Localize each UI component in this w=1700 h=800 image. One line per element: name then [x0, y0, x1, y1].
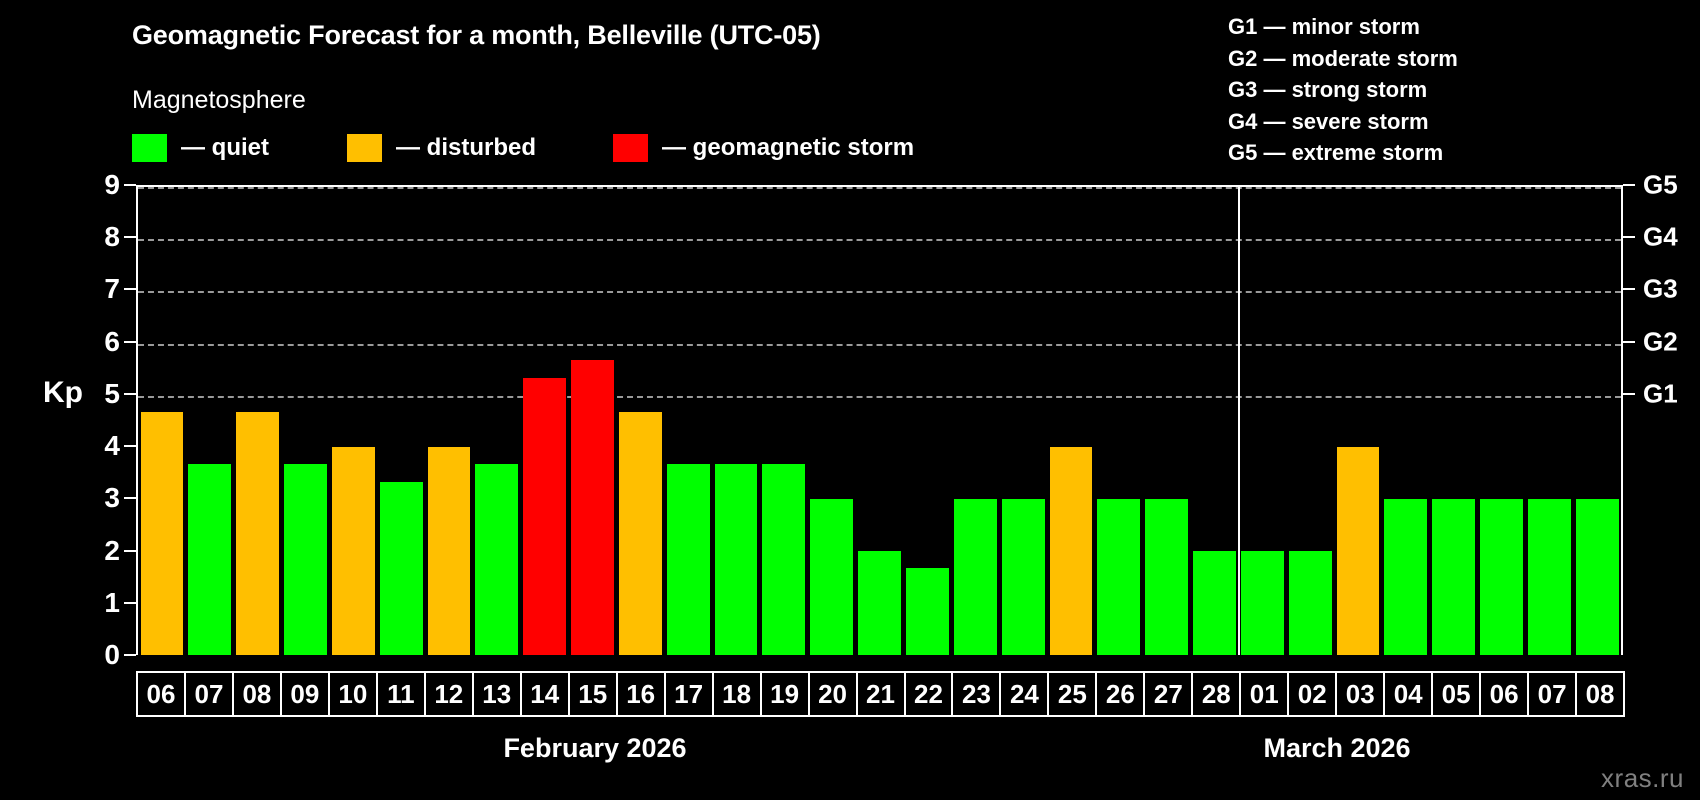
g-tick-mark-G1 — [1623, 393, 1635, 395]
legend-label: — geomagnetic storm — [662, 134, 914, 162]
date-cell[interactable]: 08 — [232, 671, 282, 717]
date-cell[interactable]: 07 — [184, 671, 234, 717]
bar-07-quiet[interactable] — [1528, 499, 1571, 655]
y-tick-label-5: 5 — [78, 378, 120, 410]
bar-09-quiet[interactable] — [284, 464, 327, 655]
date-cell[interactable]: 12 — [424, 671, 474, 717]
bar-cell[interactable] — [1095, 187, 1143, 655]
bar-02-quiet[interactable] — [1289, 551, 1332, 655]
legend-swatch-quiet-icon — [132, 134, 167, 162]
g-tick-label-G4: G4 — [1643, 222, 1678, 253]
legend-item-quiet: — quiet — [132, 134, 269, 162]
bar-cell[interactable] — [1238, 187, 1286, 655]
g-scale-row-4: G4 — severe storm — [1228, 106, 1458, 138]
g-axis: G5G4G3G2G1 — [1623, 185, 1693, 655]
g-tick-label-G3: G3 — [1643, 274, 1678, 305]
bar-cell[interactable] — [664, 187, 712, 655]
legend-item-disturbed: — disturbed — [347, 134, 536, 162]
bar-cell[interactable] — [1191, 187, 1239, 655]
legend-item-storm: — geomagnetic storm — [613, 134, 914, 162]
g-scale-legend: G1 — minor stormG2 — moderate stormG3 — … — [1228, 11, 1458, 169]
g-tick-mark-G5 — [1623, 184, 1635, 186]
bar-16-disturbed[interactable] — [619, 412, 662, 655]
y-axis-tick-marks — [124, 185, 136, 655]
bar-cell[interactable] — [329, 187, 377, 655]
bar-cell[interactable] — [282, 187, 330, 655]
date-cell[interactable]: 20 — [808, 671, 858, 717]
date-cell[interactable]: 23 — [951, 671, 1001, 717]
date-cell[interactable]: 24 — [999, 671, 1049, 717]
legend-swatch-disturbed-icon — [347, 134, 382, 162]
date-cell[interactable]: 13 — [472, 671, 522, 717]
bar-cell[interactable] — [951, 187, 999, 655]
g-scale-row-5: G5 — extreme storm — [1228, 137, 1458, 169]
date-cell[interactable]: 09 — [280, 671, 330, 717]
legend-label: — disturbed — [396, 134, 536, 162]
bar-cell[interactable] — [234, 187, 282, 655]
bar-18-quiet[interactable] — [715, 464, 758, 655]
chart-root: Geomagnetic Forecast for a month, Bellev… — [0, 0, 1700, 800]
date-cell[interactable]: 06 — [136, 671, 186, 717]
date-cell[interactable]: 06 — [1479, 671, 1529, 717]
plot-area — [136, 185, 1623, 655]
bar-cell[interactable] — [808, 187, 856, 655]
bar-01-quiet[interactable] — [1241, 551, 1284, 655]
date-cell[interactable]: 01 — [1239, 671, 1289, 717]
y-tick-mark-4 — [124, 445, 136, 447]
date-cell[interactable]: 08 — [1575, 671, 1625, 717]
date-cell[interactable]: 18 — [712, 671, 762, 717]
g-scale-row-1: G1 — minor storm — [1228, 11, 1458, 43]
bar-cell[interactable] — [760, 187, 808, 655]
bar-19-quiet[interactable] — [762, 464, 805, 655]
y-tick-label-9: 9 — [78, 169, 120, 201]
y-tick-mark-1 — [124, 602, 136, 604]
y-tick-mark-9 — [124, 184, 136, 186]
g-tick-mark-G2 — [1623, 341, 1635, 343]
bar-series — [138, 187, 1621, 655]
bar-22-quiet[interactable] — [906, 568, 949, 655]
bar-cell[interactable] — [904, 187, 952, 655]
date-cell[interactable]: 26 — [1095, 671, 1145, 717]
bar-15-storm[interactable] — [571, 360, 614, 655]
bar-cell[interactable] — [377, 187, 425, 655]
bar-17-quiet[interactable] — [667, 464, 710, 655]
bar-cell[interactable] — [569, 187, 617, 655]
bar-24-quiet[interactable] — [1002, 499, 1045, 655]
watermark: xras.ru — [1601, 763, 1684, 794]
legend-label: — quiet — [181, 134, 269, 162]
date-cell[interactable]: 16 — [616, 671, 666, 717]
bar-cell[interactable] — [856, 187, 904, 655]
g-tick-mark-G4 — [1623, 236, 1635, 238]
month-divider — [1238, 187, 1240, 655]
month-label-march: March 2026 — [1192, 733, 1482, 764]
g-tick-label-G1: G1 — [1643, 378, 1678, 409]
y-axis-tick-labels: 9876543210 — [78, 185, 120, 655]
month-label-february: February 2026 — [440, 733, 750, 764]
bar-cell[interactable] — [1382, 187, 1430, 655]
bar-cell[interactable] — [1143, 187, 1191, 655]
bar-07-quiet[interactable] — [188, 464, 231, 655]
y-tick-mark-8 — [124, 236, 136, 238]
date-cell[interactable]: 21 — [856, 671, 906, 717]
bar-cell[interactable] — [1525, 187, 1573, 655]
bar-cell[interactable] — [1573, 187, 1621, 655]
bar-cell[interactable] — [712, 187, 760, 655]
page-title: Geomagnetic Forecast for a month, Bellev… — [132, 20, 821, 51]
legend-heading: Magnetosphere — [132, 86, 306, 115]
y-tick-mark-6 — [124, 341, 136, 343]
date-cell[interactable]: 15 — [568, 671, 618, 717]
magnetosphere-legend: — quiet— disturbed— geomagnetic storm — [132, 133, 914, 163]
date-cell[interactable]: 04 — [1383, 671, 1433, 717]
bar-13-quiet[interactable] — [475, 464, 518, 655]
bar-14-storm[interactable] — [523, 378, 566, 655]
y-axis-title: Kp — [43, 376, 83, 410]
bar-11-quiet[interactable] — [380, 482, 423, 655]
bar-cell[interactable] — [616, 187, 664, 655]
date-cell[interactable]: 28 — [1191, 671, 1241, 717]
y-tick-mark-7 — [124, 288, 136, 290]
bar-cell[interactable] — [473, 187, 521, 655]
bar-10-disturbed[interactable] — [332, 447, 375, 655]
date-cell[interactable]: 22 — [904, 671, 954, 717]
bar-cell[interactable] — [138, 187, 186, 655]
y-tick-label-1: 1 — [78, 587, 120, 619]
legend-swatch-storm-icon — [613, 134, 648, 162]
date-cell[interactable]: 05 — [1431, 671, 1481, 717]
bar-08-quiet[interactable] — [1576, 499, 1619, 655]
g-scale-row-3: G3 — strong storm — [1228, 74, 1458, 106]
bar-28-quiet[interactable] — [1193, 551, 1236, 655]
bar-cell[interactable] — [1334, 187, 1382, 655]
y-tick-mark-3 — [124, 497, 136, 499]
bar-05-quiet[interactable] — [1432, 499, 1475, 655]
bar-cell[interactable] — [1286, 187, 1334, 655]
bar-cell[interactable] — [186, 187, 234, 655]
bar-20-quiet[interactable] — [810, 499, 853, 655]
y-tick-label-8: 8 — [78, 221, 120, 253]
y-tick-label-0: 0 — [78, 639, 120, 671]
date-cell[interactable]: 14 — [520, 671, 570, 717]
date-cell[interactable]: 07 — [1527, 671, 1577, 717]
plot-inner — [138, 187, 1621, 655]
bar-08-disturbed[interactable] — [236, 412, 279, 655]
date-cell[interactable]: 17 — [664, 671, 714, 717]
g-tick-mark-G3 — [1623, 288, 1635, 290]
g-tick-label-G5: G5 — [1643, 170, 1678, 201]
bar-21-quiet[interactable] — [858, 551, 901, 655]
date-cell[interactable]: 10 — [328, 671, 378, 717]
y-tick-label-3: 3 — [78, 482, 120, 514]
y-tick-mark-5 — [124, 393, 136, 395]
g-scale-row-2: G2 — moderate storm — [1228, 43, 1458, 75]
date-cell[interactable]: 02 — [1287, 671, 1337, 717]
bar-12-disturbed[interactable] — [428, 447, 471, 655]
bar-cell[interactable] — [521, 187, 569, 655]
bar-cell[interactable] — [1047, 187, 1095, 655]
y-tick-label-6: 6 — [78, 326, 120, 358]
date-cell[interactable]: 19 — [760, 671, 810, 717]
y-tick-label-7: 7 — [78, 273, 120, 305]
date-cell[interactable]: 11 — [376, 671, 426, 717]
bar-03-disturbed[interactable] — [1337, 447, 1380, 655]
date-cell[interactable]: 25 — [1047, 671, 1097, 717]
bar-cell[interactable] — [425, 187, 473, 655]
bar-26-quiet[interactable] — [1097, 499, 1140, 655]
bar-06-quiet[interactable] — [1480, 499, 1523, 655]
y-tick-label-4: 4 — [78, 430, 120, 462]
bar-cell[interactable] — [1478, 187, 1526, 655]
bar-cell[interactable] — [999, 187, 1047, 655]
bar-25-disturbed[interactable] — [1050, 447, 1093, 655]
date-cell[interactable]: 03 — [1335, 671, 1385, 717]
bar-cell[interactable] — [1430, 187, 1478, 655]
g-tick-label-G2: G2 — [1643, 326, 1678, 357]
bar-04-quiet[interactable] — [1384, 499, 1427, 655]
bar-27-quiet[interactable] — [1145, 499, 1188, 655]
y-tick-mark-0 — [124, 654, 136, 656]
bar-06-disturbed[interactable] — [141, 412, 184, 655]
y-tick-label-2: 2 — [78, 535, 120, 567]
y-tick-mark-2 — [124, 550, 136, 552]
date-cell[interactable]: 27 — [1143, 671, 1193, 717]
date-axis: 0607080910111213141516171819202122232425… — [136, 671, 1623, 717]
bar-23-quiet[interactable] — [954, 499, 997, 655]
